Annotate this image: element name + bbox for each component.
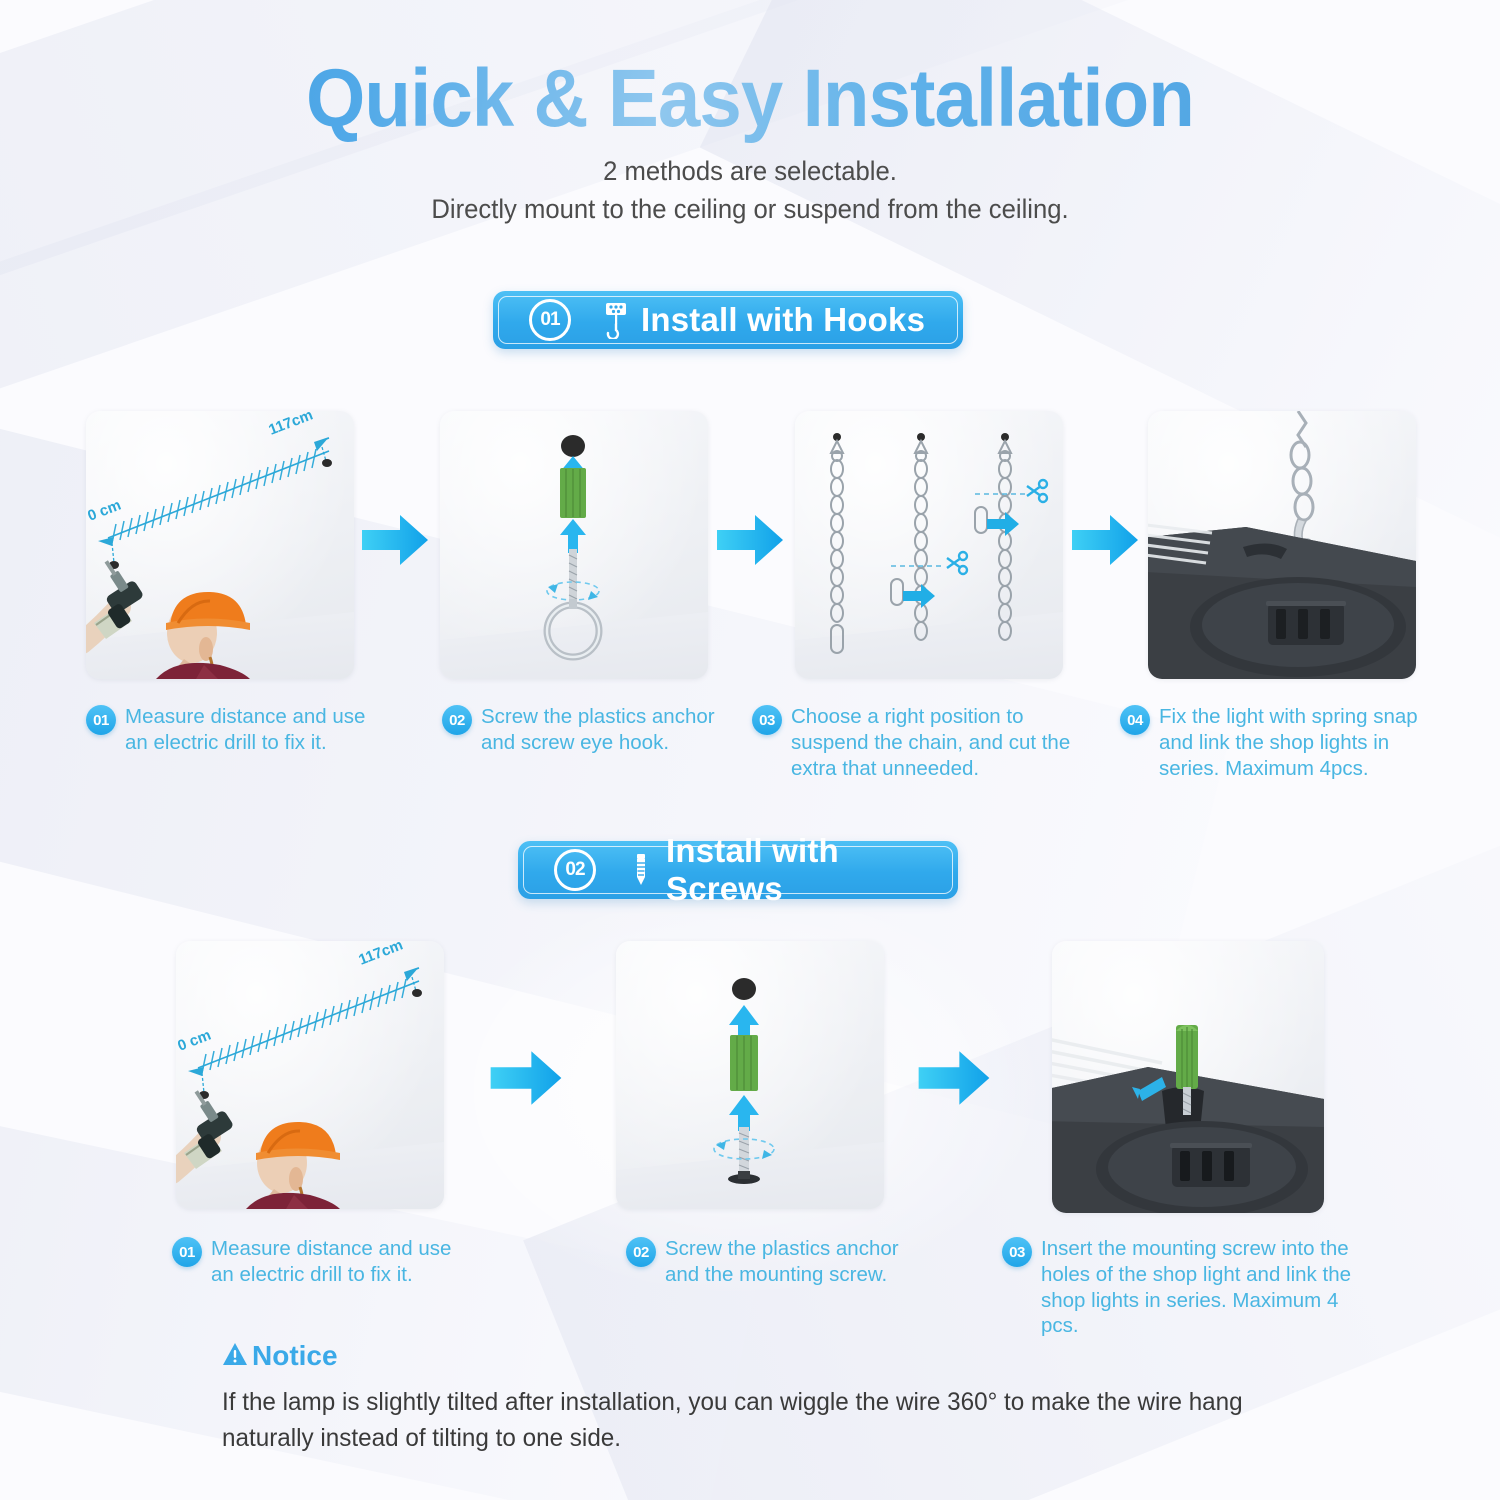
subtitle-line-1: 2 methods are selectable. — [38, 152, 1463, 190]
page-title: Quick & Easy Installation — [53, 52, 1448, 146]
section-banner-hooks[interactable]: 01 Install with Hooks — [493, 291, 963, 349]
step-image-screw-into-light — [1052, 941, 1324, 1213]
section-label-screws: Install with Screws — [666, 832, 958, 908]
step-caption-2-3: 03 Insert the mounting screw into the ho… — [1002, 1236, 1364, 1339]
subtitle-line-2: Directly mount to the ceiling or suspend… — [38, 190, 1463, 228]
warning-triangle-icon — [222, 1341, 248, 1372]
step-badge: 01 — [172, 1237, 202, 1267]
svg-text:0 cm: 0 cm — [176, 1027, 213, 1055]
step-badge: 04 — [1120, 705, 1150, 735]
step-text: Fix the light with spring snap and link … — [1159, 704, 1450, 781]
notice-heading: Notice — [252, 1340, 338, 1372]
section-label-hooks: Install with Hooks — [641, 301, 925, 339]
step-text: Screw the plastics anchor and the mounti… — [665, 1236, 916, 1288]
svg-text:0 cm: 0 cm — [86, 497, 123, 525]
step-image-eye-hook — [440, 411, 708, 679]
step-text: Screw the plastics anchor and screw eye … — [481, 704, 720, 756]
step-caption-1-3: 03 Choose a right position to suspend th… — [752, 704, 1072, 781]
flow-arrow-4 — [487, 1048, 565, 1108]
installation-guide-page: Quick & Easy Installation 2 methods are … — [0, 0, 1500, 1500]
step-caption-1-4: 04 Fix the light with spring snap and li… — [1120, 704, 1450, 781]
step-text: Insert the mounting screw into the holes… — [1041, 1236, 1364, 1339]
step-badge: 03 — [752, 705, 782, 735]
section-badge-01: 01 — [529, 299, 571, 341]
step-caption-2-1: 01 Measure distance and use an electric … — [172, 1236, 462, 1288]
step-caption-1-2: 02 Screw the plastics anchor and screw e… — [442, 704, 720, 756]
step-text: Measure distance and use an electric dri… — [125, 704, 366, 756]
step-badge: 01 — [86, 705, 116, 735]
step-text: Measure distance and use an electric dri… — [211, 1236, 462, 1288]
crane-hook-icon — [601, 301, 631, 339]
step-image-mounting-screw — [616, 941, 884, 1209]
step-caption-2-2: 02 Screw the plastics anchor and the mou… — [626, 1236, 916, 1288]
svg-text:117cm: 117cm — [266, 411, 315, 439]
section-badge-02: 02 — [554, 849, 596, 891]
step-badge: 02 — [626, 1237, 656, 1267]
flow-arrow-1 — [360, 512, 430, 568]
step-image-fixture-spring-snap — [1148, 411, 1416, 679]
flow-arrow-3 — [1070, 512, 1140, 568]
step-image-chains-cut — [795, 411, 1063, 679]
flow-arrow-5 — [915, 1048, 993, 1108]
section-banner-screws[interactable]: 02 Install with Screws — [518, 841, 958, 899]
step-caption-1-1: 01 Measure distance and use an electric … — [86, 704, 366, 756]
step-badge: 03 — [1002, 1237, 1032, 1267]
step-badge: 02 — [442, 705, 472, 735]
notice-heading-row: Notice — [222, 1340, 1282, 1372]
step-image-measure-drill-2: 0 cm 117cm — [176, 941, 444, 1209]
notice-block: Notice If the lamp is slightly tilted af… — [222, 1340, 1282, 1457]
step-text: Choose a right position to suspend the c… — [791, 704, 1072, 781]
flow-arrow-2 — [715, 512, 785, 568]
page-subtitle: 2 methods are selectable. Directly mount… — [38, 152, 1463, 229]
notice-body: If the lamp is slightly tilted after ins… — [222, 1384, 1250, 1457]
step-image-measure-drill-1: 0 cm 117cm — [86, 411, 354, 679]
svg-text:117cm: 117cm — [356, 941, 405, 969]
screw-icon — [626, 851, 656, 889]
